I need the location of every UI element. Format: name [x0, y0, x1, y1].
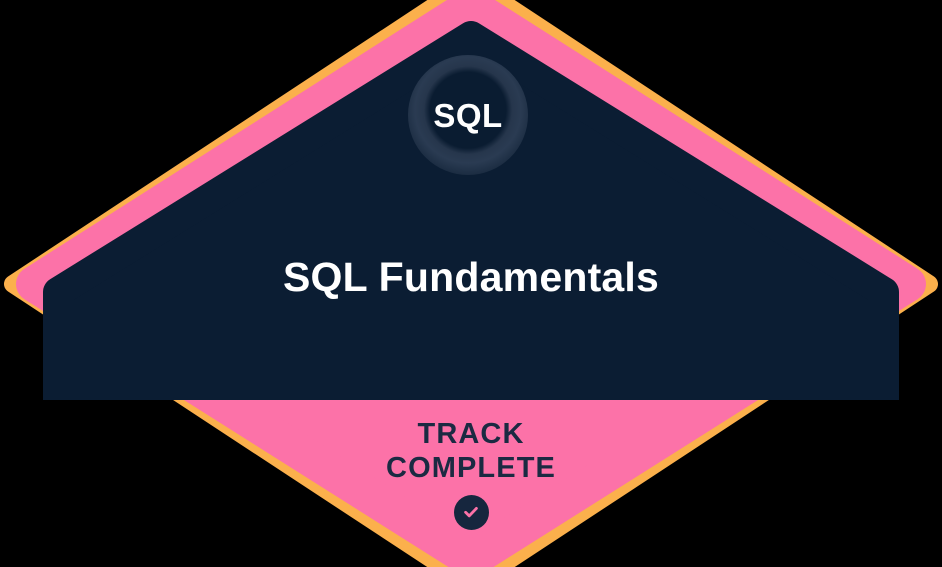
sql-emblem-circle[interactable]: SQL	[408, 55, 528, 175]
sql-emblem-label: SQL	[433, 99, 502, 132]
check-circle-icon	[454, 495, 489, 530]
track-badge-card: SQL SQL Fundamentals TRACK COMPLETE	[0, 0, 942, 567]
